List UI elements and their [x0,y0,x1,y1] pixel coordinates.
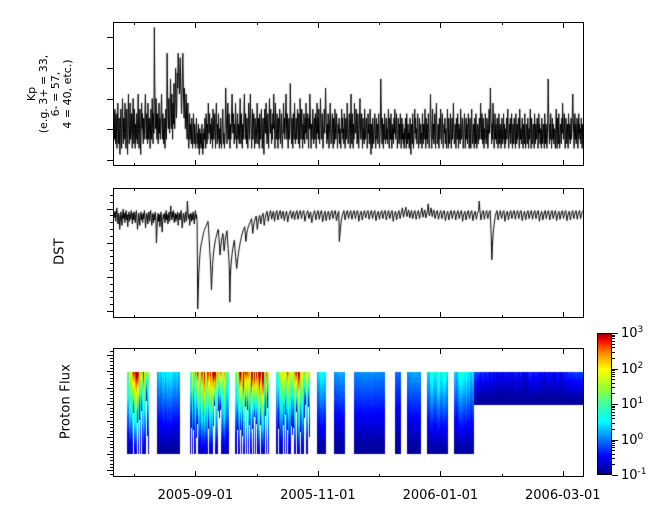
axis-tick-mark [110,427,113,428]
axis-tick-mark [612,379,615,380]
axis-tick-mark [502,22,503,25]
axis-tick-mark [110,358,113,359]
axis-tick-mark [257,163,258,166]
axis-tick-mark [612,358,615,359]
axis-tick-mark [612,458,615,459]
axis-tick-mark [612,445,615,446]
dst-panel [113,188,584,318]
dst-plot-canvas [114,189,583,317]
axis-tick-mark [612,443,615,444]
x-tick-label: 2005-11-01 [280,488,356,503]
axis-tick-mark [110,374,113,375]
axis-tick-mark [612,372,615,373]
axis-tick-mark [502,348,503,351]
axis-tick-mark [110,417,113,418]
axis-tick-mark [612,475,618,476]
colorbar-tick-mantissa: 10 [621,326,638,341]
axis-tick-mark [502,474,503,477]
axis-tick-mark [440,312,441,318]
axis-tick-mark [134,163,135,166]
axis-tick-mark [134,188,135,191]
axis-tick-mark [110,398,113,399]
axis-tick-mark [612,415,615,416]
axis-tick-mark [563,312,564,318]
proton-flux-axis-label: Proton Flux [59,346,74,456]
axis-tick-mark [110,414,113,415]
axis-tick-mark [107,454,113,455]
axis-tick-mark [110,256,113,257]
axis-tick-mark [379,474,380,477]
axis-tick-mark [110,447,113,448]
axis-tick-mark [110,378,113,379]
axis-tick-mark [612,454,615,455]
colorbar-tick-label: 101 [621,396,643,412]
axis-tick-mark [110,467,113,468]
axis-tick-mark [612,404,618,405]
axis-tick-mark [612,333,618,334]
colorbar-tick-exponent: -1 [638,467,647,477]
axis-tick-mark [257,474,258,477]
axis-tick-mark [612,387,615,388]
colorbar-tick-exponent: 0 [638,431,644,441]
axis-tick-mark [110,457,113,458]
axis-tick-mark [110,215,113,216]
axis-tick-mark [502,163,503,166]
axis-tick-mark [612,336,615,337]
axis-tick-mark [502,315,503,318]
colorbar-gradient [598,334,611,474]
axis-tick-mark [440,22,441,28]
axis-tick-mark [110,408,113,409]
axis-tick-mark [110,464,113,465]
colorbar-tick-label: 100 [621,431,643,447]
axis-tick-mark [110,368,113,369]
axis-tick-mark [257,22,258,25]
axis-tick-mark [195,348,196,354]
axis-tick-mark [110,384,113,385]
axis-tick-mark [612,338,615,339]
axis-tick-mark [612,418,615,419]
axis-tick-mark [318,188,319,194]
axis-tick-mark [107,68,113,69]
axis-tick-mark [110,195,113,196]
axis-tick-mark [563,160,564,166]
axis-tick-mark [563,188,564,194]
axis-tick-mark [379,188,380,191]
axis-tick-mark [612,441,615,442]
axis-tick-mark [612,376,615,377]
axis-tick-mark [612,393,615,394]
axis-tick-mark [110,361,113,362]
kp-axis-label-line-4: 4 = 40, etc.) [62,19,74,169]
axis-tick-mark [107,404,113,405]
axis-tick-mark [379,163,380,166]
axis-tick-mark [612,347,615,348]
axis-tick-mark [110,229,113,230]
axis-tick-mark [110,270,113,271]
colorbar-tick-label: 103 [621,325,643,341]
axis-tick-mark [195,188,196,194]
axis-tick-mark [134,474,135,477]
axis-tick-mark [110,391,113,392]
axis-tick-mark [318,160,319,166]
axis-tick-mark [612,407,615,408]
axis-tick-mark [110,411,113,412]
axis-tick-mark [110,284,113,285]
axis-tick-mark [379,348,380,351]
axis-tick-mark [107,371,113,372]
axis-tick-mark [612,412,615,413]
kp-panel [113,22,584,166]
axis-tick-mark [110,304,113,305]
colorbar-tick-mantissa: 10 [621,468,638,483]
axis-tick-mark [612,450,615,451]
axis-tick-mark [612,344,615,345]
axis-tick-mark [612,447,615,448]
axis-tick-mark [612,464,615,465]
axis-tick-mark [110,424,113,425]
proton-flux-panel [113,348,584,477]
axis-tick-mark [110,202,113,203]
axis-tick-mark [107,437,113,438]
proton-flux-heatmap-canvas [114,349,583,476]
axis-tick-mark [612,406,615,407]
axis-tick-mark [257,188,258,191]
axis-tick-mark [195,22,196,28]
kp-axis-label: Kp (e.g. 3+ = 33, 6- = 57, 4 = 40, etc.) [26,19,82,169]
axis-tick-mark [110,297,113,298]
colorbar-tick-label: 10-1 [621,467,647,483]
colorbar-tick-mantissa: 10 [621,362,638,377]
axis-tick-mark [110,434,113,435]
colorbar-tick-mantissa: 10 [621,433,638,448]
kp-plot-canvas [114,23,583,165]
axis-tick-mark [440,188,441,194]
axis-tick-mark [110,460,113,461]
axis-tick-mark [107,277,113,278]
axis-tick-mark [110,250,113,251]
axis-tick-mark [107,209,113,210]
axis-tick-mark [612,341,615,342]
axis-tick-mark [612,429,615,430]
axis-tick-mark [379,22,380,25]
axis-tick-mark [110,365,113,366]
colorbar-tick-exponent: 3 [638,325,644,335]
axis-tick-mark [318,471,319,477]
axis-tick-mark [440,348,441,354]
axis-tick-mark [195,312,196,318]
dst-axis-label: DST [53,212,68,292]
x-tick-label: 2006-03-01 [525,488,601,503]
axis-tick-mark [107,129,113,130]
axis-tick-mark [110,351,113,352]
axis-tick-mark [110,381,113,382]
axis-tick-mark [107,421,113,422]
axis-tick-mark [563,348,564,354]
axis-tick-mark [107,311,113,312]
axis-tick-mark [257,315,258,318]
axis-tick-mark [107,37,113,38]
axis-tick-mark [134,348,135,351]
axis-tick-mark [107,388,113,389]
axis-tick-mark [110,401,113,402]
axis-tick-mark [440,471,441,477]
axis-tick-mark [107,355,113,356]
axis-tick-mark [612,374,615,375]
colorbar-tick-label: 102 [621,360,643,376]
axis-tick-mark [502,188,503,191]
axis-tick-mark [134,22,135,25]
axis-tick-mark [110,444,113,445]
axis-tick-mark [612,409,615,410]
axis-tick-mark [110,451,113,452]
axis-tick-mark [134,315,135,318]
axis-tick-mark [107,99,113,100]
axis-tick-mark [563,471,564,477]
axis-tick-mark [107,243,113,244]
colorbar-tick-mantissa: 10 [621,397,638,412]
colorbar-tick-exponent: 1 [638,396,644,406]
axis-tick-mark [107,470,113,471]
axis-tick-mark [612,335,615,336]
axis-tick-mark [110,441,113,442]
x-tick-label: 2005-09-01 [158,488,234,503]
axis-tick-mark [612,370,615,371]
axis-tick-mark [110,431,113,432]
axis-tick-mark [379,315,380,318]
axis-tick-mark [318,22,319,28]
axis-tick-mark [318,312,319,318]
axis-tick-mark [612,352,615,353]
x-tick-label: 2006-01-01 [403,488,479,503]
axis-tick-mark [110,291,113,292]
axis-tick-mark [110,263,113,264]
axis-tick-mark [563,22,564,28]
axis-tick-mark [612,383,615,384]
figure-root: Kp (e.g. 3+ = 33, 6- = 57, 4 = 40, etc.)… [0,0,665,523]
axis-tick-mark [110,222,113,223]
colorbar-tick-exponent: 2 [638,360,644,370]
axis-tick-mark [318,348,319,354]
axis-tick-mark [195,160,196,166]
axis-tick-mark [110,236,113,237]
axis-tick-mark [195,471,196,477]
colorbar [597,333,612,475]
axis-tick-mark [107,160,113,161]
axis-tick-mark [110,394,113,395]
axis-tick-mark [257,348,258,351]
axis-tick-mark [440,160,441,166]
axis-tick-mark [612,423,615,424]
axis-tick-mark [110,474,113,475]
